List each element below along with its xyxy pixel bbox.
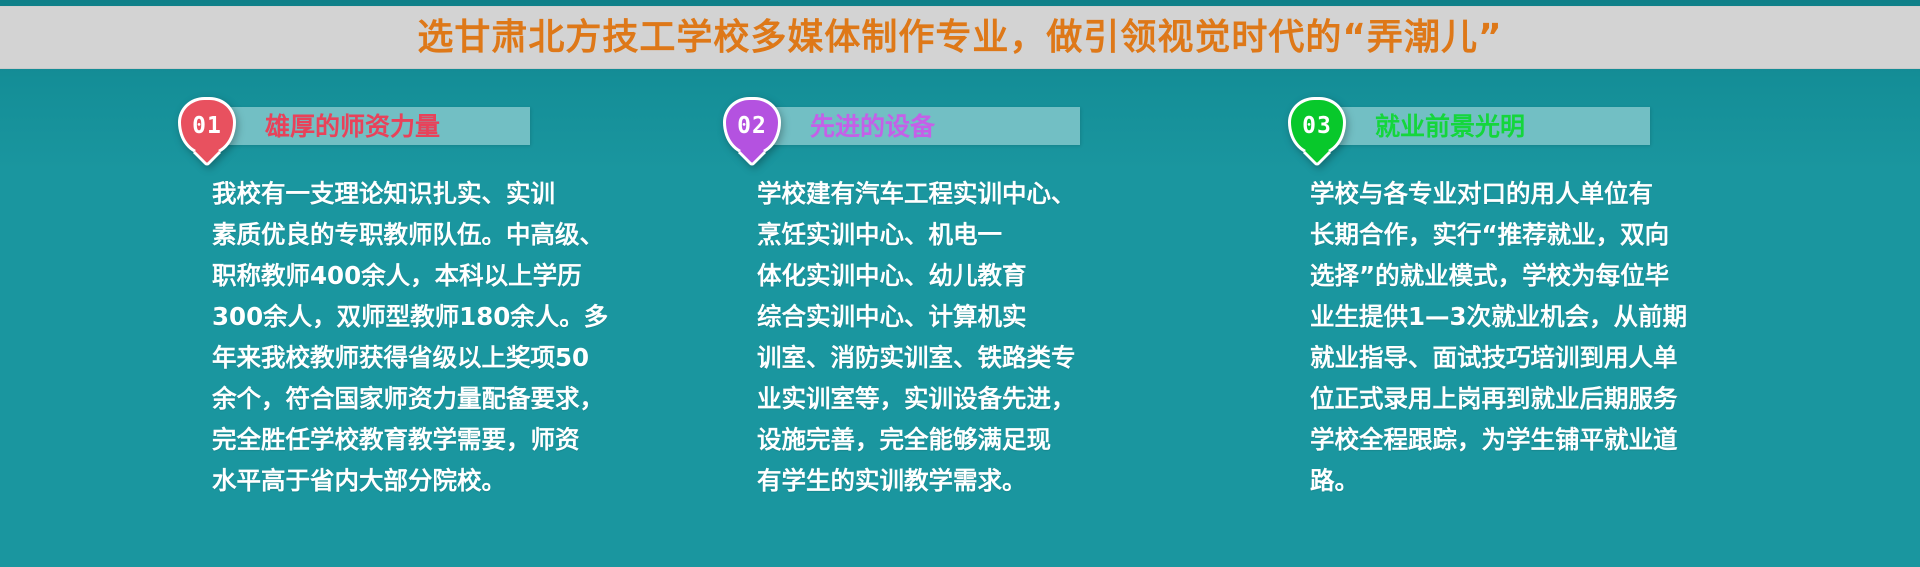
body-line: 综合实训中心、计算机实 — [757, 296, 1150, 337]
feature-column-1: 雄厚的师资力量 01 我校有一支理论知识扎实、实训 素质优良的专职教师队伍。中高… — [160, 69, 600, 501]
body-line: 业实训室等，实训设备先进， — [757, 378, 1150, 419]
badge-number-3: 03 — [1302, 115, 1332, 138]
body-line: 业生提供1—3次就业机会，从前期 — [1310, 296, 1740, 337]
body-line: 学校与各专业对口的用人单位有 — [1310, 173, 1740, 214]
body-line: 体化实训中心、幼儿教育 — [757, 255, 1150, 296]
feature-title-bar-3: 就业前景光明 — [1305, 107, 1650, 145]
body-line: 职称教师400余人，本科以上学历 — [212, 255, 600, 296]
body-line: 年来我校教师获得省级以上奖项50 — [212, 337, 600, 378]
badge-number-2: 02 — [737, 115, 767, 138]
body-line: 学校全程跟踪，为学生铺平就业道 — [1310, 419, 1740, 460]
body-line: 训室、消防实训室、铁路类专 — [757, 337, 1150, 378]
body-line: 我校有一支理论知识扎实、实训 — [212, 173, 600, 214]
body-line: 烹饪实训中心、机电一 — [757, 214, 1150, 255]
feature-column-3: 就业前景光明 03 学校与各专业对口的用人单位有 长期合作，实行“推荐就业，双向… — [1270, 69, 1740, 501]
badge-number-1: 01 — [192, 115, 222, 138]
pin-badge-icon-1: 01 — [178, 97, 236, 155]
body-line: 长期合作，实行“推荐就业，双向 — [1310, 214, 1740, 255]
body-line: 完全胜任学校教育教学需要，师资 — [212, 419, 600, 460]
body-line: 就业指导、面试技巧培训到用人单 — [1310, 337, 1740, 378]
feature-title-bar-1: 雄厚的师资力量 — [195, 107, 530, 145]
body-line: 选择”的就业模式，学校为每位毕 — [1310, 255, 1740, 296]
feature-columns: 雄厚的师资力量 01 我校有一支理论知识扎实、实训 素质优良的专职教师队伍。中高… — [0, 69, 1920, 567]
body-line: 素质优良的专职教师队伍。中高级、 — [212, 214, 600, 255]
feature-body-3: 学校与各专业对口的用人单位有 长期合作，实行“推荐就业，双向 选择”的就业模式，… — [1270, 173, 1740, 501]
header-banner: 选甘肃北方技工学校多媒体制作专业，做引领视觉时代的“弄潮儿” — [0, 6, 1920, 69]
feature-column-2: 先进的设备 02 学校建有汽车工程实训中心、 烹饪实训中心、机电一 体化实训中心… — [705, 69, 1150, 501]
body-line: 300余人，双师型教师180余人。多 — [212, 296, 600, 337]
feature-title-2: 先进的设备 — [810, 114, 935, 139]
feature-title-row-1: 雄厚的师资力量 01 — [160, 69, 600, 159]
pin-badge-icon-3: 03 — [1288, 97, 1346, 155]
feature-title-1: 雄厚的师资力量 — [265, 114, 440, 139]
body-line: 位正式录用上岗再到就业后期服务 — [1310, 378, 1740, 419]
feature-body-1: 我校有一支理论知识扎实、实训 素质优良的专职教师队伍。中高级、 职称教师400余… — [160, 173, 600, 501]
page-title: 选甘肃北方技工学校多媒体制作专业，做引领视觉时代的“弄潮儿” — [417, 20, 1502, 56]
feature-title-row-2: 先进的设备 02 — [705, 69, 1150, 159]
body-line: 设施完善，完全能够满足现 — [757, 419, 1150, 460]
promo-page: 选甘肃北方技工学校多媒体制作专业，做引领视觉时代的“弄潮儿” 雄厚的师资力量 0… — [0, 0, 1920, 567]
pin-badge-icon-2: 02 — [723, 97, 781, 155]
feature-title-bar-2: 先进的设备 — [740, 107, 1080, 145]
feature-body-2: 学校建有汽车工程实训中心、 烹饪实训中心、机电一 体化实训中心、幼儿教育 综合实… — [705, 173, 1150, 501]
body-line: 有学生的实训教学需求。 — [757, 460, 1150, 501]
body-line: 余个，符合国家师资力量配备要求， — [212, 378, 600, 419]
body-line: 学校建有汽车工程实训中心、 — [757, 173, 1150, 214]
feature-title-row-3: 就业前景光明 03 — [1270, 69, 1740, 159]
feature-title-3: 就业前景光明 — [1375, 114, 1525, 139]
body-line: 路。 — [1310, 460, 1740, 501]
body-line: 水平高于省内大部分院校。 — [212, 460, 600, 501]
